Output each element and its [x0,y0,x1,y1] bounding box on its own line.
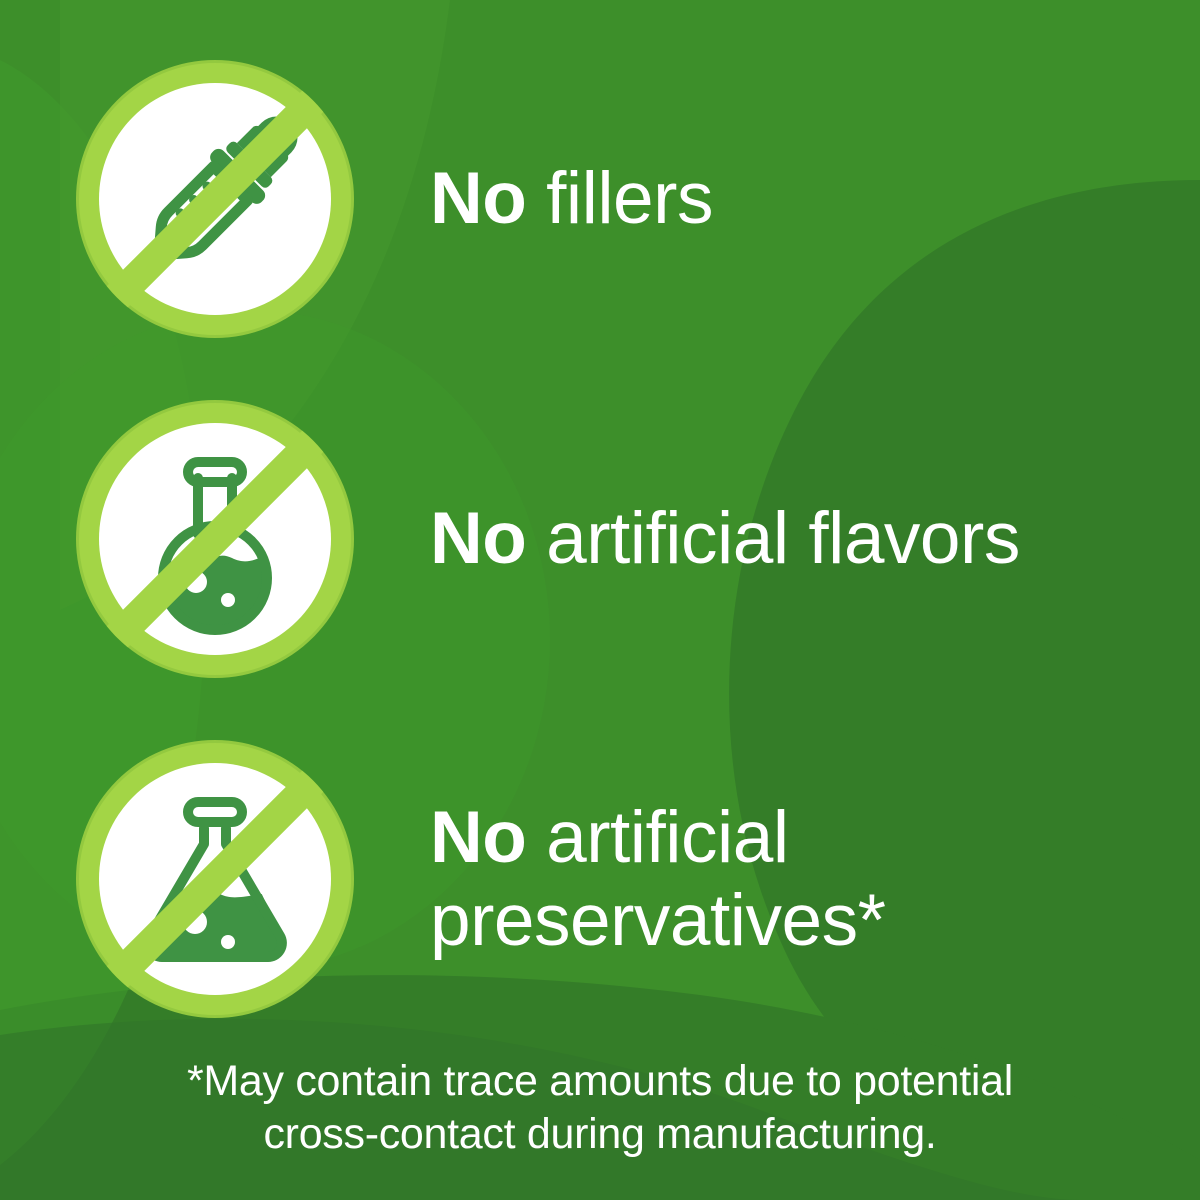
badge-slot-3 [0,740,430,1018]
claim-rest-word: fillers [526,158,713,239]
no-round-flask-icon [76,400,354,678]
badge-slot-2 [0,400,430,678]
bubble-small [221,935,235,949]
footnote-line-2: cross-contact during manufacturing. [50,1108,1150,1160]
no-erlenmeyer-flask-icon [76,740,354,1018]
claim-strong-word: No [430,797,526,878]
claim-row-artificial-preservatives: No artificial preservatives* [0,740,1200,1018]
claim-strong-word: No [430,498,526,579]
claim-text-fillers: No fillers [430,157,713,240]
claim-text-artificial-preservatives: No artificial preservatives* [430,796,1130,962]
claim-row-artificial-flavors: No artificial flavors [0,400,1200,678]
claim-strong-word: No [430,158,526,239]
badge-slot-1 [0,60,430,338]
claim-text-artificial-flavors: No artificial flavors [430,497,1020,580]
no-dropper-icon [76,60,354,338]
claim-row-fillers: No fillers [0,60,1200,338]
footnote-disclaimer: *May contain trace amounts due to potent… [0,1055,1200,1160]
no-fillers-claims-poster: No fillers [0,0,1200,1200]
claim-rest-word: artificial flavors [526,498,1020,579]
footnote-line-1: *May contain trace amounts due to potent… [50,1055,1150,1107]
bubble-small [221,593,235,607]
